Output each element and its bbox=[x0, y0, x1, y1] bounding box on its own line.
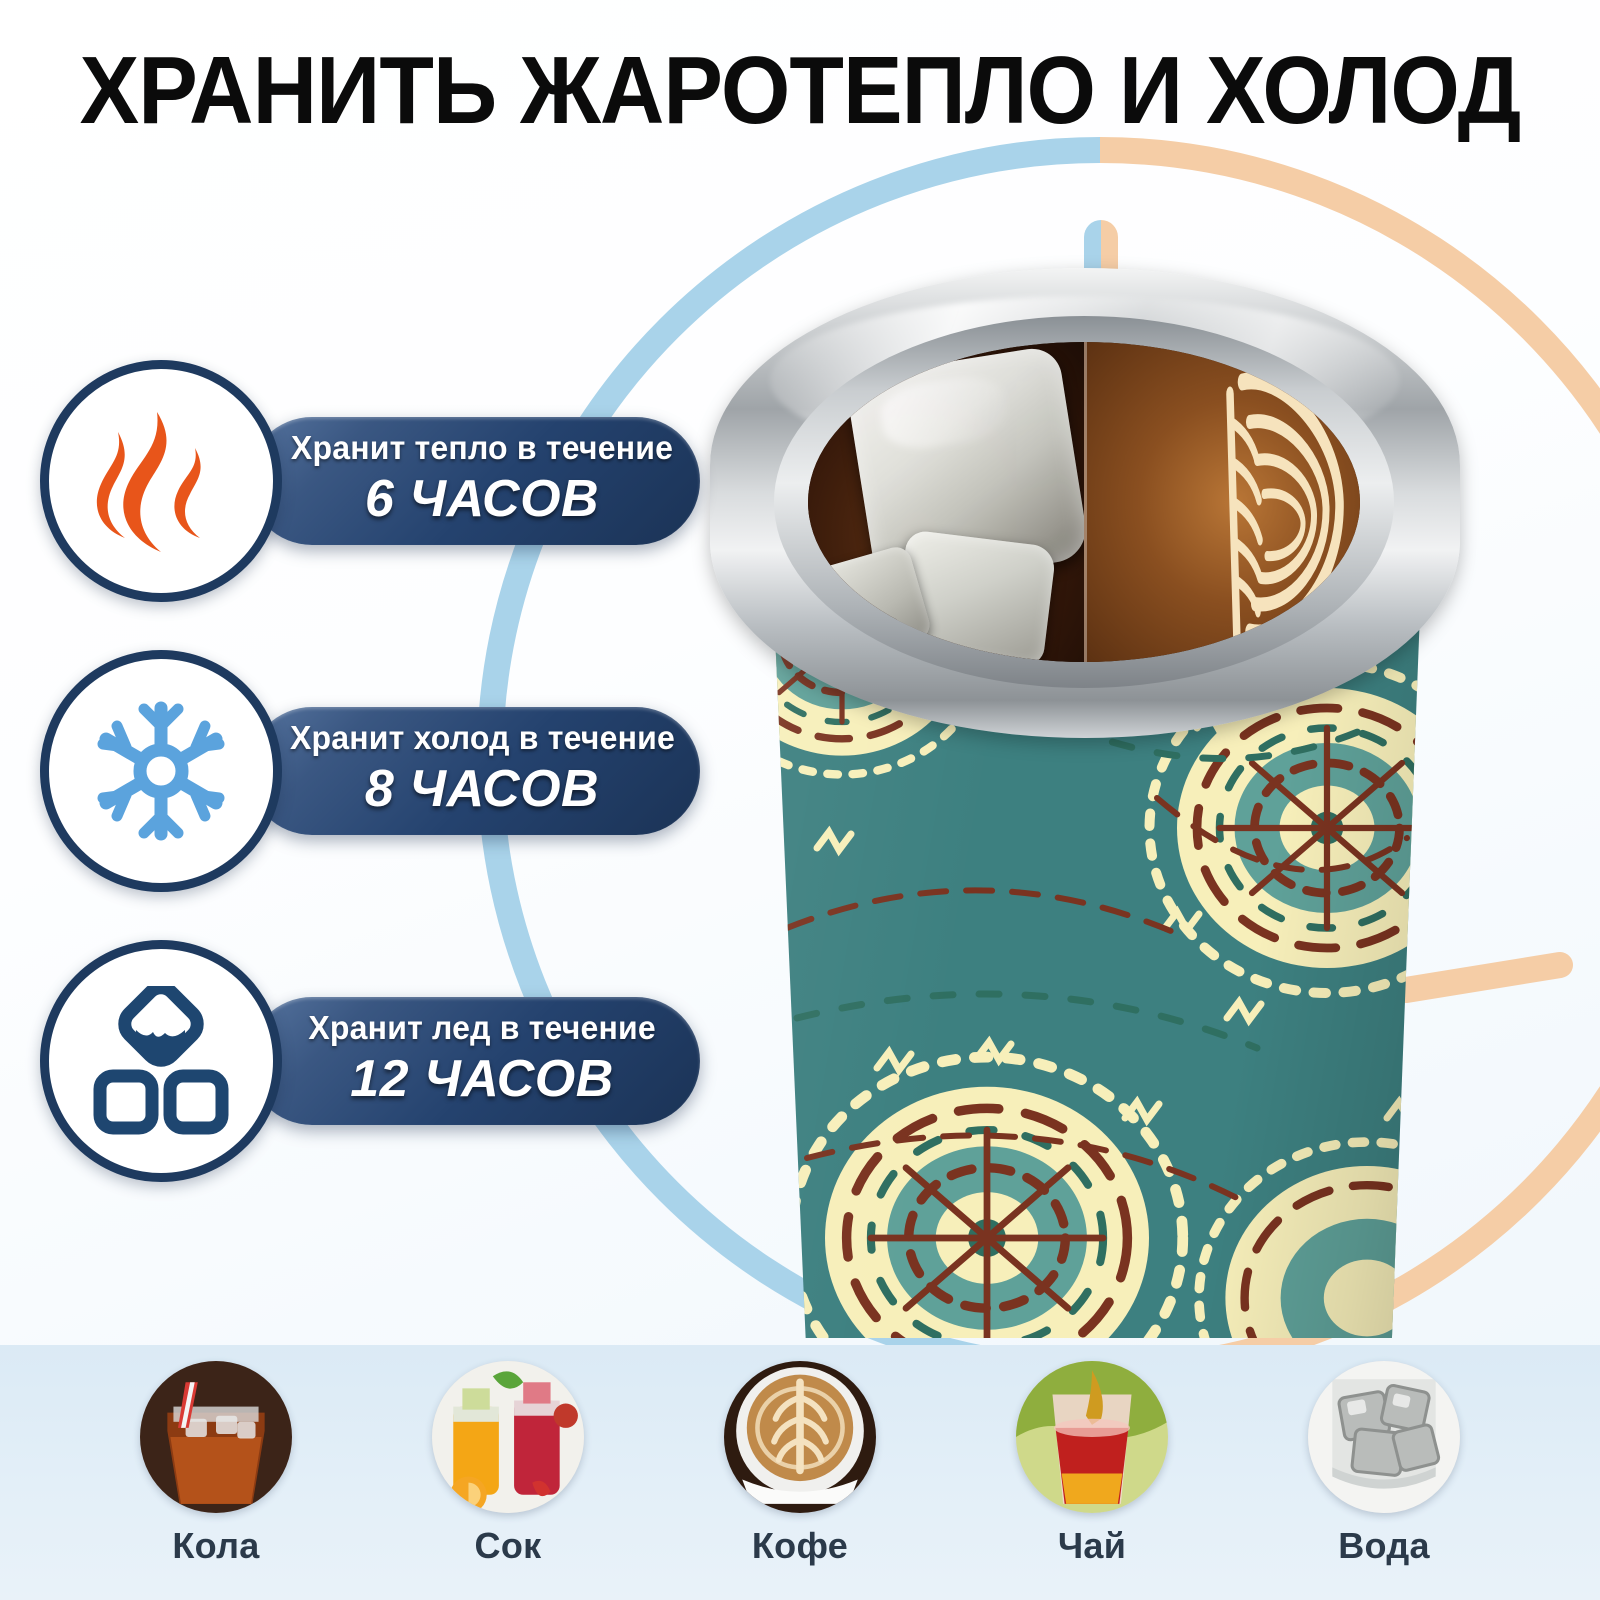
feature-line2: 6 ЧАСОВ bbox=[365, 469, 599, 529]
drink-item[interactable]: Чай bbox=[992, 1345, 1192, 1567]
drink-item[interactable]: Сок bbox=[408, 1345, 608, 1567]
feature-pill-cold: Хранит холод в течение 8 ЧАСОВ bbox=[248, 707, 700, 835]
tumbler-steel-rim bbox=[710, 268, 1460, 738]
latte-cup-icon bbox=[724, 1361, 876, 1513]
hot-latte-half bbox=[1084, 342, 1360, 662]
drink-item[interactable]: Вода bbox=[1284, 1345, 1484, 1567]
drink-label: Кола bbox=[172, 1525, 259, 1567]
tumbler-inner-rim bbox=[774, 316, 1394, 688]
snowflake-icon bbox=[40, 650, 282, 892]
latte-art-rosetta bbox=[1222, 342, 1360, 662]
drink-label: Кофе bbox=[752, 1525, 848, 1567]
feature-line2: 8 ЧАСОВ bbox=[365, 759, 599, 819]
tumbler-contents bbox=[808, 342, 1360, 662]
product-tumbler bbox=[690, 268, 1480, 1358]
drink-label: Сок bbox=[475, 1525, 542, 1567]
cola-glass-icon bbox=[140, 1361, 292, 1513]
feature-badge-cold[interactable]: Хранит холод в течение 8 ЧАСОВ bbox=[40, 650, 700, 892]
ice-water-icon bbox=[1308, 1361, 1460, 1513]
drinks-strip: Кола bbox=[0, 1345, 1600, 1600]
feature-line2: 12 ЧАСОВ bbox=[350, 1049, 614, 1109]
feature-badge-ice[interactable]: Хранит лед в течение 12 ЧАСОВ bbox=[40, 940, 700, 1182]
tea-glass-icon bbox=[1016, 1361, 1168, 1513]
ice-cubes-icon bbox=[40, 940, 282, 1182]
feature-badge-heat[interactable]: Хранит тепло в течение 6 ЧАСОВ bbox=[40, 360, 700, 602]
drink-item[interactable]: Кола bbox=[116, 1345, 316, 1567]
juice-bottles-icon bbox=[432, 1361, 584, 1513]
iced-coffee-half bbox=[808, 342, 1084, 662]
page-title: ХРАНИТЬ ЖАРОТЕПЛО И ХОЛОД bbox=[56, 36, 1544, 146]
feature-pill-heat: Хранит тепло в течение 6 ЧАСОВ bbox=[248, 417, 700, 545]
drink-label: Вода bbox=[1338, 1525, 1430, 1567]
feature-pill-ice: Хранит лед в течение 12 ЧАСОВ bbox=[248, 997, 700, 1125]
drink-item[interactable]: Кофе bbox=[700, 1345, 900, 1567]
drink-label: Чай bbox=[1058, 1525, 1126, 1567]
infographic-canvas: ХРАНИТЬ ЖАРОТЕПЛО И ХОЛОД bbox=[0, 0, 1600, 1600]
feature-line1: Хранит тепло в течение bbox=[291, 429, 673, 467]
heat-waves-icon bbox=[40, 360, 282, 602]
feature-line1: Хранит лед в течение bbox=[308, 1009, 656, 1047]
feature-line1: Хранит холод в течение bbox=[289, 719, 674, 757]
